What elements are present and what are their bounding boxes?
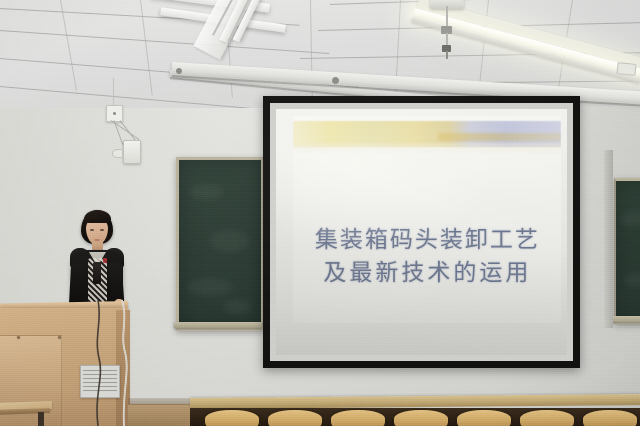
wall-speaker xyxy=(123,140,141,164)
slide-title-line-2: 及最新技术的运用 xyxy=(293,257,561,290)
slide-band-accent xyxy=(438,133,561,141)
speaker-clip xyxy=(112,149,123,158)
right-chalkboard xyxy=(614,178,640,324)
presentation-slide: 集装箱码头装卸工艺 及最新技术的运用 xyxy=(293,116,561,323)
presenter-scarf xyxy=(93,262,101,284)
right-chalk-tray xyxy=(612,316,640,322)
ceiling-sensor xyxy=(616,62,636,76)
seat-back xyxy=(520,410,574,426)
slide-title-line-1: 集装箱码头装卸工艺 xyxy=(315,227,540,253)
left-chalk-tray xyxy=(174,322,262,328)
left-chalkboard xyxy=(176,157,264,331)
slide-band-fade xyxy=(293,143,561,153)
valance-bracket xyxy=(332,77,339,84)
seat-back xyxy=(394,410,448,426)
right-board-post xyxy=(604,150,613,328)
lecture-hall-photo: 集装箱码头装卸工艺 及最新技术的运用 xyxy=(0,0,640,426)
seat-back xyxy=(268,410,322,426)
valance-bracket xyxy=(176,68,182,74)
seat-back xyxy=(457,410,511,426)
presenter-fringe xyxy=(84,210,111,223)
seat-back xyxy=(205,410,259,426)
seat-back xyxy=(583,410,637,426)
slide-title: 集装箱码头装卸工艺 及最新技术的运用 xyxy=(293,191,561,323)
microphone-cable-white xyxy=(112,300,144,426)
seat-back xyxy=(331,410,385,426)
projection-screen[interactable]: 集装箱码头装卸工艺 及最新技术的运用 xyxy=(263,96,580,368)
presenter-badge xyxy=(103,258,107,263)
screen-surface: 集装箱码头装卸工艺 及最新技术的运用 xyxy=(276,109,567,355)
